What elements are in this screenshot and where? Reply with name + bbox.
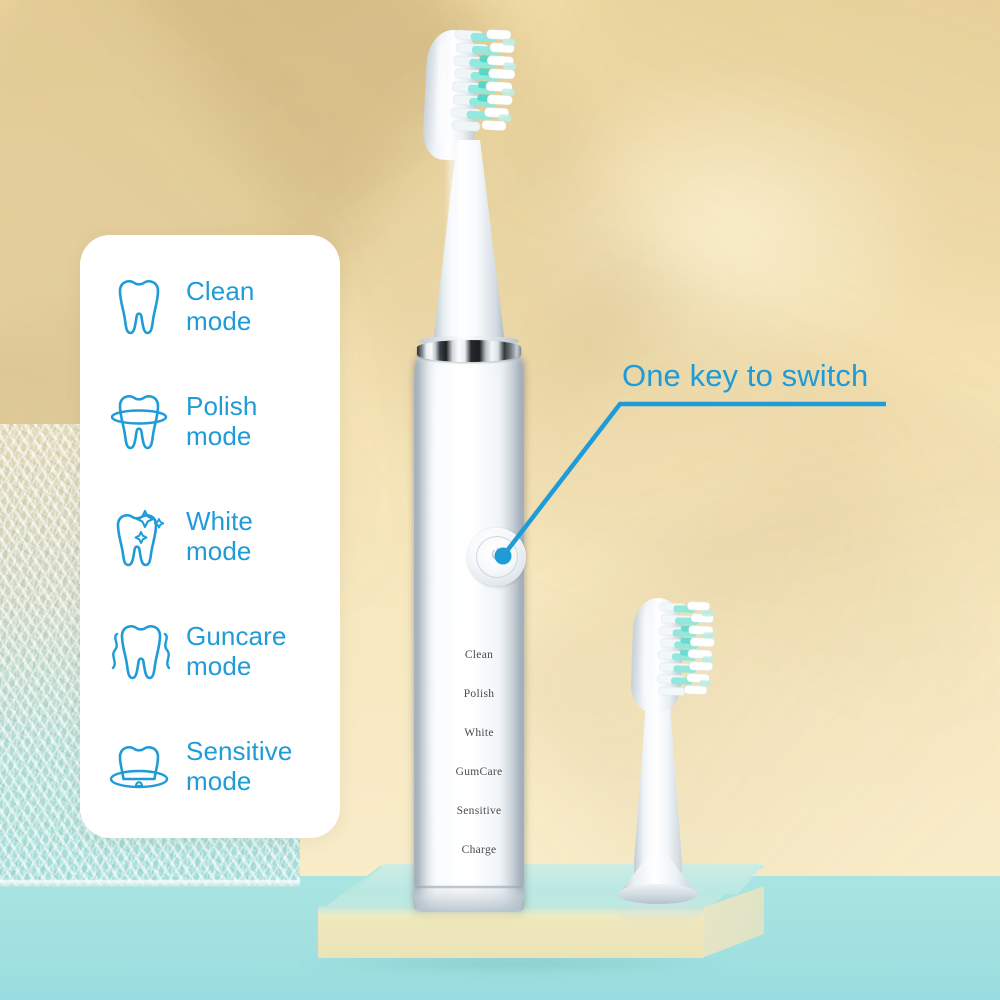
mode-label-white: White mode [186,507,253,565]
power-icon [490,547,505,564]
mode-name: Guncare [186,621,286,651]
handle-printed-modes: Clean Polish White GumCare Sensitive Cha… [440,650,518,884]
handle-print-row: Sensitive [440,806,518,845]
brush-neck-highlight [447,142,457,350]
handle-print-row: Charge [440,845,518,884]
tooth-icon [106,273,172,341]
handle-print-label: Sensitive [440,806,518,818]
tooth-polish-icon [106,388,172,456]
mode-item-guncare[interactable]: Guncare mode [80,600,340,704]
mode-name: White [186,506,253,536]
mode-suffix: mode [186,422,257,451]
mode-name: Polish [186,391,257,421]
mode-item-clean[interactable]: Clean mode [80,255,340,359]
handle-print-row: Clean [440,650,518,689]
product-scene: Clean Polish White GumCare Sensitive Cha… [0,0,1000,1000]
handle-bottom-cap [414,884,524,912]
mode-suffix: mode [186,652,286,681]
mode-item-polish[interactable]: Polish mode [80,370,340,474]
brush-bristles [449,26,541,148]
handle-print-row: Polish [440,689,518,728]
mode-name: Clean [186,276,254,306]
handle-print-label: Clean [440,650,518,662]
mode-item-white[interactable]: White mode [80,485,340,589]
mode-label-polish: Polish mode [186,392,257,450]
brush-neck [432,140,506,352]
brush-head-highlight [436,40,447,144]
mode-name: Sensitive [186,736,292,766]
mode-list: Clean mode Polish mode [80,235,340,838]
callout-label: One key to switch [622,358,868,394]
mode-label-clean: Clean mode [186,277,254,335]
handle-print-label: Charge [440,845,518,857]
mode-list-card: Clean mode Polish mode [80,235,340,838]
handle-print-label: GumCare [440,767,518,779]
mode-suffix: mode [186,537,253,566]
mode-item-sensitive[interactable]: Sensitive mode [80,715,340,819]
handle-print-row: GumCare [440,767,518,806]
handle-shade-left [414,358,428,910]
mode-suffix: mode [186,767,292,796]
tooth-gum-icon [106,733,172,801]
mode-label-guncare: Guncare mode [186,622,286,680]
mode-label-sensitive: Sensitive mode [186,737,292,795]
tooth-vibration-icon [106,618,172,686]
handle-print-label: White [440,728,518,740]
handle-print-label: Polish [440,689,518,701]
tooth-sparkle-icon [106,503,172,571]
mode-suffix: mode [186,307,254,336]
handle-bottom-seam [416,886,522,888]
handle-print-row: White [440,728,518,767]
